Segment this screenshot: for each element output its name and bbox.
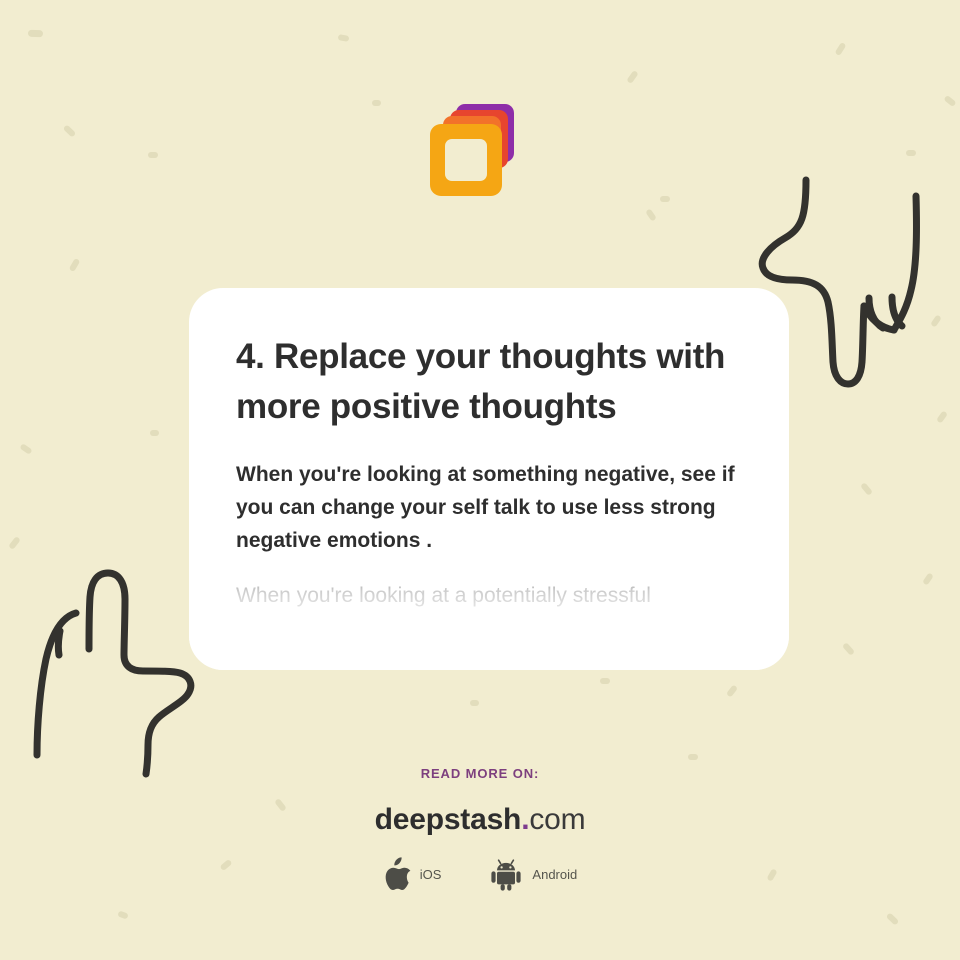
card-body-text: When you're looking at a potentially str…	[236, 579, 742, 612]
confetti-speck	[688, 754, 698, 760]
confetti-speck	[886, 912, 900, 925]
wordmark-name: deepstash	[375, 803, 522, 836]
store-badges: iOS Android	[0, 857, 960, 891]
android-badge-label: Android	[532, 867, 577, 882]
footer: READ MORE ON: deepstash.com iOS	[0, 766, 960, 891]
confetti-speck	[906, 150, 916, 156]
confetti-speck	[69, 258, 81, 272]
confetti-speck	[835, 42, 847, 56]
card-content: 4. Replace your thoughts with more posit…	[189, 288, 789, 612]
deepstash-logo-icon	[430, 104, 516, 196]
confetti-speck	[645, 208, 657, 221]
confetti-speck	[470, 700, 479, 706]
confetti-speck	[8, 536, 21, 550]
pointing-up-hand-icon	[18, 555, 218, 785]
confetti-speck	[726, 684, 738, 697]
card-title: 4. Replace your thoughts with more posit…	[236, 332, 742, 432]
confetti-speck	[19, 443, 32, 455]
confetti-speck	[338, 34, 350, 42]
confetti-speck	[660, 196, 670, 202]
confetti-speck	[117, 910, 128, 919]
android-store-badge[interactable]: Android	[489, 857, 577, 891]
confetti-speck	[372, 100, 381, 106]
ios-badge-label: iOS	[420, 867, 442, 882]
ios-store-badge[interactable]: iOS	[383, 857, 442, 891]
confetti-speck	[148, 152, 158, 158]
confetti-speck	[28, 30, 43, 38]
logo-center-hole	[445, 139, 487, 181]
confetti-speck	[860, 482, 873, 496]
confetti-speck	[63, 124, 77, 137]
confetti-speck	[600, 678, 610, 684]
confetti-speck	[936, 410, 948, 423]
wordmark-tld: com	[529, 803, 585, 836]
confetti-speck	[922, 572, 934, 585]
read-more-label: READ MORE ON:	[0, 766, 960, 781]
card-summary: When you're looking at something negativ…	[236, 458, 742, 557]
confetti-speck	[626, 70, 638, 84]
confetti-speck	[150, 430, 159, 436]
deepstash-wordmark[interactable]: deepstash.com	[0, 803, 960, 837]
android-icon	[489, 857, 523, 891]
confetti-speck	[842, 642, 855, 656]
apple-icon	[383, 857, 411, 891]
confetti-speck	[943, 95, 956, 107]
idea-card[interactable]: 4. Replace your thoughts with more posit…	[189, 288, 789, 670]
